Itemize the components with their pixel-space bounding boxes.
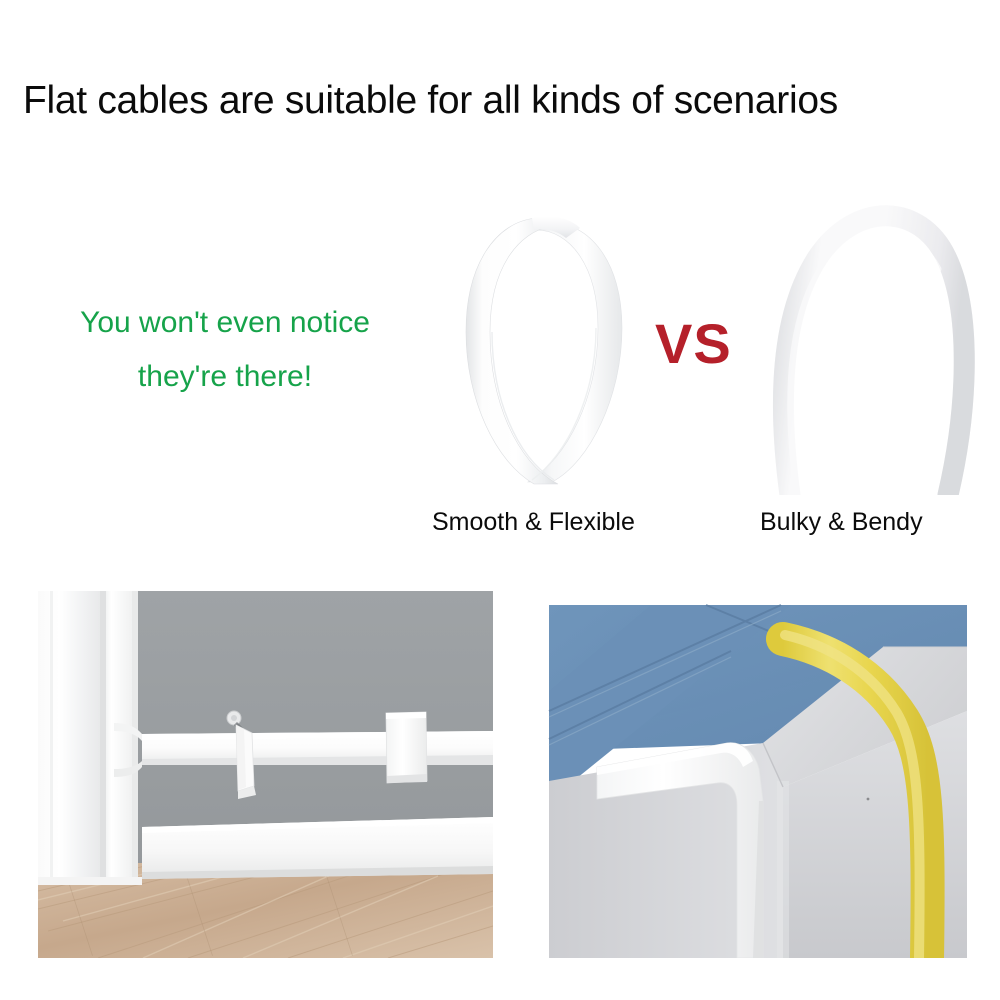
- wall-scene-illustration: [38, 591, 493, 958]
- page-title: Flat cables are suitable for all kinds o…: [23, 78, 988, 124]
- corner-render-illustration: [531, 591, 967, 958]
- caption-round-cable: Bulky & Bendy: [760, 507, 923, 537]
- marketing-infographic: Flat cables are suitable for all kinds o…: [0, 0, 1000, 1000]
- round-cable-loop-icon: [760, 195, 990, 495]
- flat-cable-along-wall-photo: [38, 591, 493, 958]
- flat-cable-loop-icon: [440, 200, 660, 500]
- caption-flat-cable: Smooth & Flexible: [432, 507, 635, 537]
- corner-bend-comparison-render: [531, 591, 967, 958]
- cable-loop-comparison: [0, 195, 1000, 505]
